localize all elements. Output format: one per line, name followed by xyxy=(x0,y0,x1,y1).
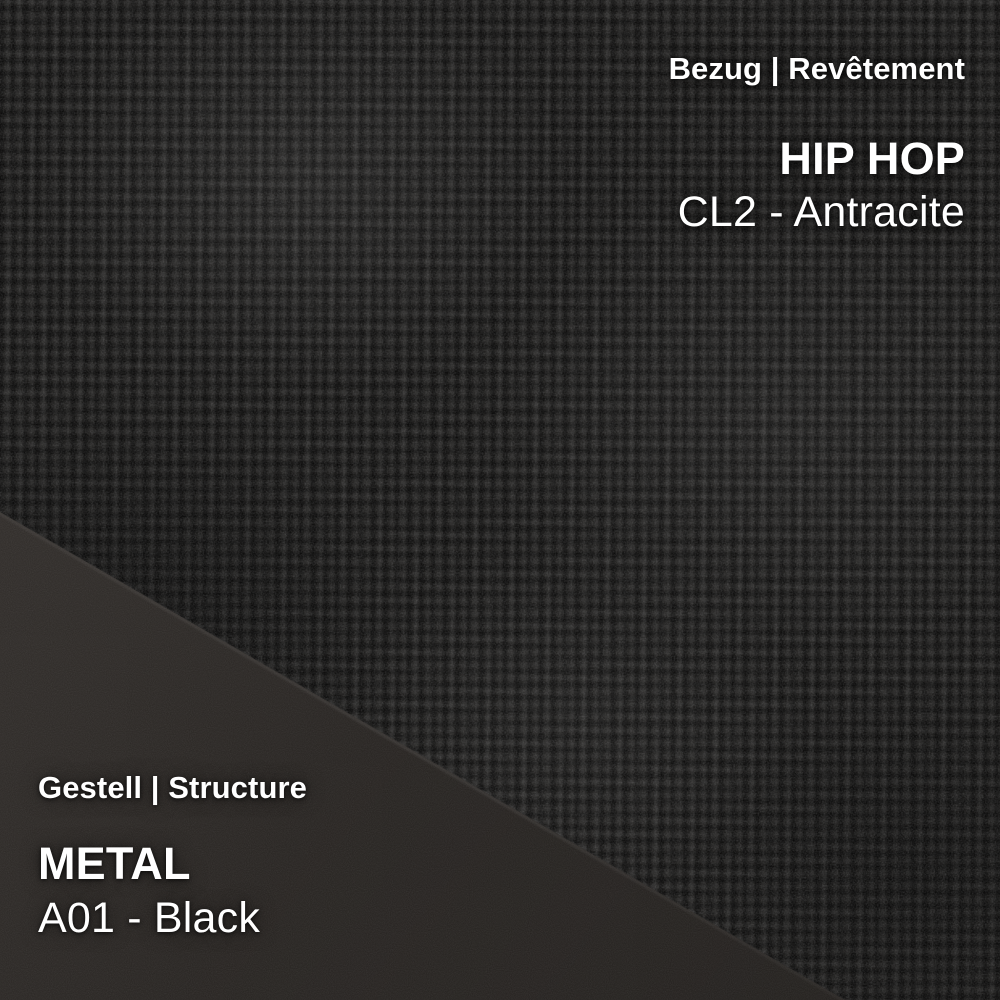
frame-product-code: A01 - Black xyxy=(38,895,307,942)
frame-category-label: Gestell | Structure xyxy=(38,771,307,806)
upholstery-product-code: CL2 - Antracite xyxy=(669,189,965,236)
frame-product-name: METAL xyxy=(38,840,307,889)
upholstery-label-block: Bezug | Revêtement HIP HOP CL2 - Antraci… xyxy=(669,52,965,237)
material-swatch-card: Bezug | Revêtement HIP HOP CL2 - Antraci… xyxy=(0,0,1000,1000)
upholstery-product-name: HIP HOP xyxy=(669,135,965,184)
frame-label-block: Gestell | Structure METAL A01 - Black xyxy=(38,771,307,942)
upholstery-category-label: Bezug | Revêtement xyxy=(669,52,965,87)
